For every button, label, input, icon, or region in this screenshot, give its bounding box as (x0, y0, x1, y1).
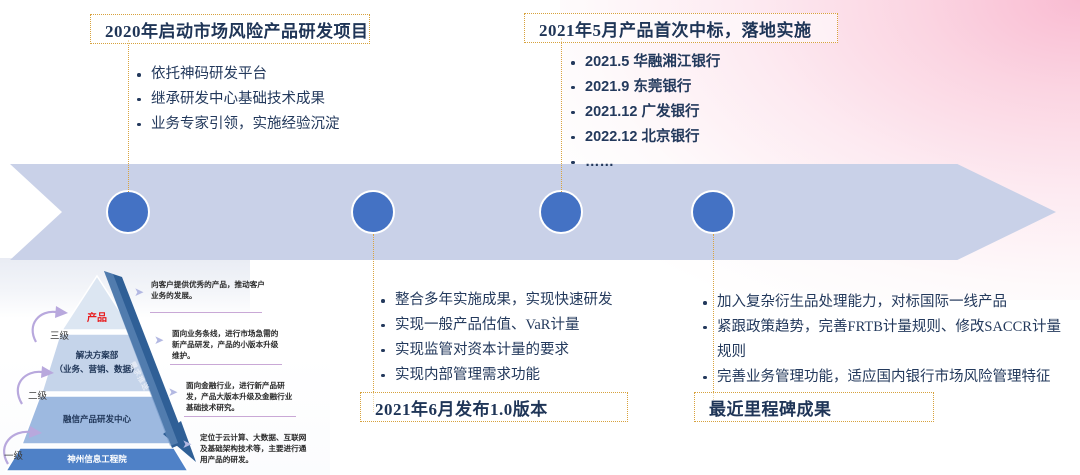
list-item: 依托神码研发平台 (134, 62, 404, 87)
list-item: 继承研发中心基础技术成果 (134, 87, 404, 112)
pyramid-divider-3 (184, 416, 296, 417)
pyramid-divider-1 (150, 312, 262, 313)
infographic-canvas: 2020年启动市场风险产品研发项目 依托神码研发平台 继承研发中心基础技术成果 … (0, 0, 1080, 475)
pyramid-level-label-2: 二级 (28, 388, 47, 402)
timeline-node-1[interactable] (106, 190, 150, 234)
pyramid-desc-arrow-2: ➤ (154, 334, 164, 346)
list-item: 2022.12 北京银行 (568, 125, 848, 150)
list-item: 紧跟政策趋势，完善FRTB计量规则、修改SACCR计量规则 (700, 315, 1072, 365)
list-item: 整合多年实施成果，实现快速研发 (378, 288, 658, 313)
pyramid-desc-arrow-3: ➤ (168, 386, 178, 398)
list-item: 加入复杂衍生品处理能力，对标国际一线产品 (700, 290, 1072, 315)
milestone-1-title-box[interactable]: 2020年启动市场风险产品研发项目 (90, 14, 370, 44)
list-item: 完善业务管理功能，适应国内银行市场风险管理特征 (700, 365, 1072, 390)
pyramid-desc-3: 面向金融行业，进行新产品研发，产品大版本升级及金融行业基础技术研究。 (186, 380, 294, 413)
connector-node-2 (373, 234, 374, 412)
milestone-1-title: 2020年启动市场风险产品研发项目 (105, 17, 369, 42)
pyramid-tier-3-name: 融信产品研发中心 (42, 414, 152, 425)
pyramid-desc-arrow-4: ➤ (182, 438, 192, 450)
pyramid-tier-2-name: 解决方案部 (52, 350, 142, 361)
milestone-3-title: 2021年5月产品首次中标，落地实施 (539, 16, 812, 41)
milestone-4-title-box[interactable]: 最近里程碑成果 (694, 392, 934, 422)
list-item: 实现监管对资本计量的要求 (378, 338, 658, 363)
timeline-node-4[interactable] (691, 190, 735, 234)
list-item: 实现一般产品估值、VaR计量 (378, 313, 658, 338)
pyramid-divider-2 (170, 364, 282, 365)
list-item: 实现内部管理需求功能 (378, 363, 658, 388)
list-item: 2021.12 广发银行 (568, 100, 848, 125)
milestone-2-title-box[interactable]: 2021年6月发布1.0版本 (360, 392, 628, 422)
list-item: 2021.5 华融湘江银行 (568, 50, 848, 75)
timeline-node-3[interactable] (539, 190, 583, 234)
milestone-1-bullets: 依托神码研发平台 继承研发中心基础技术成果 业务专家引领，实施经验沉淀 (134, 62, 404, 137)
milestone-3-bullets: 2021.5 华融湘江银行 2021.9 东莞银行 2021.12 广发银行 2… (568, 50, 848, 175)
milestone-2-bullets: 整合多年实施成果，实现快速研发 实现一般产品估值、VaR计量 实现监管对资本计量… (378, 288, 658, 388)
list-item: 2021.9 东莞银行 (568, 75, 848, 100)
milestone-3-title-box[interactable]: 2021年5月产品首次中标，落地实施 (524, 13, 838, 43)
organization-pyramid-diagram: 三级 二级 一级 产品 解决方案部 （业务、营销、数据） 融信产品研发中心 神州… (0, 268, 345, 475)
pyramid-desc-4: 定位于云计算、大数据、互联网及基础架构技术等，主要进行通用产品的研发。 (200, 432, 308, 465)
pyramid-tier-1-name: 产品 (67, 312, 127, 326)
pyramid-level-label-1: 一级 (4, 448, 23, 462)
connector-node-3 (561, 38, 562, 192)
pyramid-desc-1: 向客户提供优秀的产品，推动客户业务的发展。 (151, 279, 271, 301)
pyramid-level-label-3: 三级 (50, 328, 69, 342)
milestone-4-bullets: 加入复杂衍生品处理能力，对标国际一线产品 紧跟政策趋势，完善FRTB计量规则、修… (700, 290, 1072, 390)
pyramid-desc-2: 面向业务条线，进行市场急需的新产品研发，产品的小版本升级维护。 (172, 328, 280, 361)
pyramid-desc-arrow-1: ➤ (134, 286, 144, 298)
list-item: 业务专家引领，实施经验沉淀 (134, 112, 404, 137)
milestone-2-title: 2021年6月发布1.0版本 (375, 395, 548, 420)
milestone-4-title: 最近里程碑成果 (709, 395, 832, 420)
timeline-arrow-band (10, 164, 1056, 260)
list-item: …… (568, 150, 848, 175)
connector-node-1 (128, 40, 129, 192)
timeline-node-2[interactable] (351, 190, 395, 234)
pyramid-tier-4-name: 神州信息工程院 (42, 454, 152, 465)
